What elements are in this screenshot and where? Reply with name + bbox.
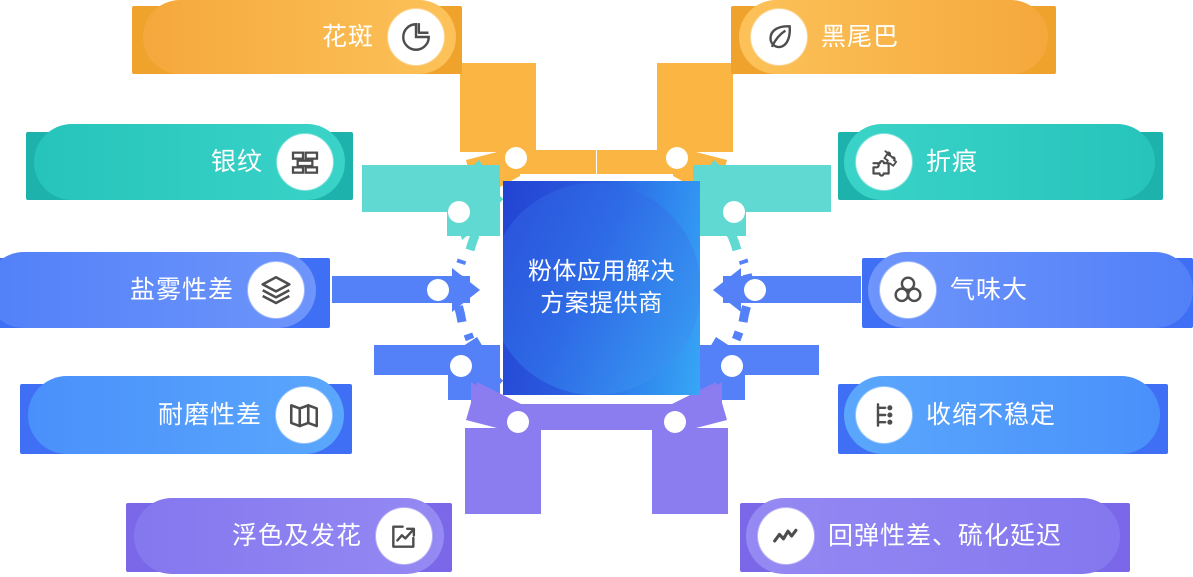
node-hui-tan-pill[interactable]: 回弹性差、硫化延迟 — [746, 498, 1120, 574]
node-shou-suo-bu-wen-ding[interactable]: 收缩不稳定 — [838, 376, 1168, 460]
node-hua-ban[interactable]: 花斑 — [132, 0, 462, 80]
node-qi-wei-da-pill[interactable]: 气味大 — [868, 252, 1193, 328]
node-hei-wei-ba[interactable]: 黑尾巴 — [731, 0, 1056, 80]
node-yan-wu-label: 盐雾性差 — [130, 278, 234, 303]
sitemap-icon — [856, 387, 912, 443]
connector-yan-wu-xing-cha — [332, 268, 480, 312]
layers-icon — [248, 262, 304, 318]
brick-wall-icon — [277, 134, 333, 190]
node-fu-se-label: 浮色及发花 — [232, 524, 362, 549]
recycle-icon — [880, 262, 936, 318]
node-nai-mo-xing-cha[interactable]: 耐磨性差 — [20, 376, 352, 460]
node-hua-ban-pill[interactable]: 花斑 — [143, 0, 456, 74]
node-qi-wei-da[interactable]: 气味大 — [862, 252, 1193, 334]
node-qi-wei-da-label: 气味大 — [950, 278, 1028, 303]
center-title-line1: 粉体应用解决 — [528, 256, 675, 288]
node-nai-mo-pill[interactable]: 耐磨性差 — [28, 376, 344, 454]
diagram-canvas: 粉体应用解决 方案提供商 花斑 黑尾巴 — [0, 0, 1193, 577]
connector-zhe-hen — [693, 160, 831, 240]
pie-chart-icon — [388, 9, 444, 65]
center-title: 粉体应用解决 方案提供商 — [528, 256, 675, 320]
connector-yin-wen — [362, 160, 500, 240]
node-shou-suo-label: 收缩不稳定 — [926, 403, 1056, 428]
connector-qi-wei-da — [713, 268, 861, 312]
center-node[interactable]: 粉体应用解决 方案提供商 — [503, 181, 700, 395]
node-fu-se-ji-fa-hua[interactable]: 浮色及发花 — [126, 498, 452, 577]
center-title-line2: 方案提供商 — [528, 288, 675, 320]
node-zhe-hen-pill[interactable]: 折痕 — [844, 124, 1155, 200]
node-hua-ban-label: 花斑 — [322, 25, 374, 50]
node-zhe-hen-label: 折痕 — [926, 150, 978, 175]
open-book-icon — [276, 387, 332, 443]
line-chart-icon — [758, 508, 814, 564]
node-nai-mo-label: 耐磨性差 — [158, 403, 262, 428]
node-yan-wu-pill[interactable]: 盐雾性差 — [0, 252, 316, 328]
node-hei-wei-ba-pill[interactable]: 黑尾巴 — [739, 0, 1048, 74]
node-yin-wen[interactable]: 银纹 — [26, 124, 353, 206]
connector-fu-se-ji-fa-hua — [465, 382, 597, 514]
node-hui-tan-xing-cha[interactable]: 回弹性差、硫化延迟 — [740, 498, 1130, 577]
node-yin-wen-pill[interactable]: 银纹 — [34, 124, 345, 200]
connector-hui-tan-xing-cha — [596, 382, 728, 514]
node-yin-wen-label: 银纹 — [211, 150, 263, 175]
node-hei-wei-ba-label: 黑尾巴 — [821, 25, 899, 50]
node-shou-suo-pill[interactable]: 收缩不稳定 — [844, 376, 1160, 454]
puzzle-piece-icon — [856, 134, 912, 190]
node-yan-wu-xing-cha[interactable]: 盐雾性差 — [0, 252, 330, 334]
leaf-icon — [751, 9, 807, 65]
node-zhe-hen[interactable]: 折痕 — [838, 124, 1163, 206]
node-fu-se-pill[interactable]: 浮色及发花 — [134, 498, 444, 574]
node-hui-tan-label: 回弹性差、硫化延迟 — [828, 524, 1062, 549]
trend-up-box-icon — [376, 508, 432, 564]
